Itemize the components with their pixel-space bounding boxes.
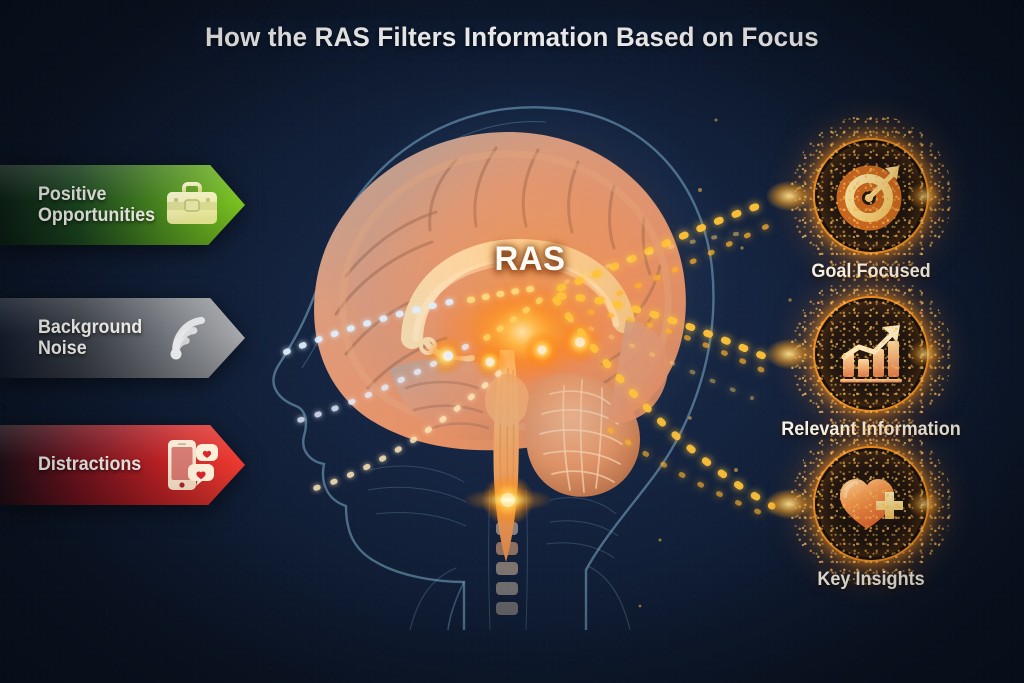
- target-bullseye-icon: [835, 160, 907, 232]
- output-ring-1: [815, 140, 927, 252]
- output-node-relevant-information[interactable]: Relevant Information: [756, 298, 986, 441]
- arrow-body-gray: BackgroundNoise: [0, 298, 245, 378]
- output-node-goal-focused[interactable]: Goal Focused: [756, 140, 986, 283]
- input-arrow-background-noise[interactable]: BackgroundNoise: [0, 298, 245, 378]
- output-ring-2: [815, 298, 927, 410]
- input-label-distractions: Distractions: [38, 454, 151, 475]
- input-arrow-positive-opportunities[interactable]: PositiveOpportunities: [0, 165, 245, 245]
- input-label-background-noise: BackgroundNoise: [38, 317, 151, 360]
- briefcase-icon: [160, 173, 224, 237]
- wifi-signal-icon: [160, 306, 224, 370]
- output-label-key-insights: Key Insights: [762, 569, 981, 591]
- infographic-canvas: How the RAS Filters Information Based on…: [0, 0, 1024, 683]
- brain-glow: [190, 30, 810, 670]
- bar-chart-growth-icon: [834, 319, 908, 389]
- arrow-body-red: Distractions: [0, 425, 245, 505]
- output-label-goal-focused: Goal Focused: [762, 261, 981, 283]
- head-brain-illustration: [250, 70, 750, 630]
- ras-center-label: RAS: [433, 240, 627, 279]
- output-label-relevant-information: Relevant Information: [762, 419, 981, 441]
- smartphone-notification-icon: [160, 433, 224, 497]
- arrow-body-green: PositiveOpportunities: [0, 165, 245, 245]
- output-node-key-insights[interactable]: Key Insights: [756, 448, 986, 591]
- heart-plus-icon: [834, 469, 908, 539]
- input-label-positive-opportunities: PositiveOpportunities: [38, 184, 151, 227]
- page-title: How the RAS Filters Information Based on…: [20, 22, 1003, 53]
- input-arrow-distractions[interactable]: Distractions: [0, 425, 245, 505]
- output-ring-3: [815, 448, 927, 560]
